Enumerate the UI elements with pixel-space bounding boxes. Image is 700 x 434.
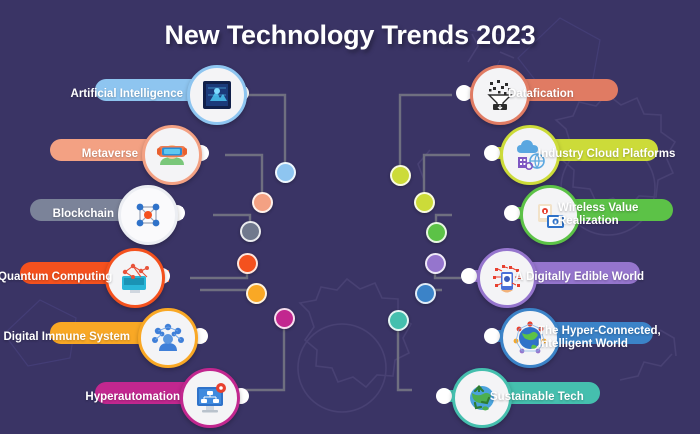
trend-knob <box>436 388 452 404</box>
trend-label: Datafication <box>508 88 658 101</box>
trend-label: Blockchain <box>0 208 114 221</box>
trend-item-hyper-connected-intelligent-world[interactable]: The Hyper-Connected, Intelligent World <box>478 308 668 368</box>
connector-dot-right-3 <box>426 222 447 243</box>
trend-label: Wireless Value Realization <box>558 202 700 228</box>
trend-item-hyperautomation[interactable]: Hyperautomation <box>95 368 275 428</box>
trend-item-industry-cloud-platforms[interactable]: Industry Cloud Platforms <box>478 125 663 185</box>
trend-item-datafication[interactable]: Datafication <box>448 65 623 125</box>
trend-item-metaverse[interactable]: Metaverse <box>50 125 225 185</box>
blockchain-nodes-icon <box>118 185 178 245</box>
trend-item-artificial-intelligence[interactable]: Artificial Intelligence <box>95 65 255 125</box>
connector-dot-left-2 <box>252 192 273 213</box>
trend-label: Metaverse <box>10 148 138 161</box>
connector-dot-right-6 <box>388 310 409 331</box>
connector-dot-left-5 <box>246 283 267 304</box>
trend-label: Industry Cloud Platforms <box>538 148 700 161</box>
trend-item-sustainable-tech[interactable]: Sustainable Tech <box>430 368 615 428</box>
trend-item-a-digitally-edible-world[interactable]: A Digitally Edible World <box>455 248 645 308</box>
trend-label: Sustainable Tech <box>490 391 640 404</box>
connector-dot-right-2 <box>414 192 435 213</box>
automation-monitor-icon <box>180 368 240 428</box>
trend-knob <box>461 268 477 284</box>
connector-dot-left-4 <box>237 253 258 274</box>
trend-label: Artificial Intelligence <box>55 88 183 101</box>
trend-knob <box>504 205 520 221</box>
quantum-computer-icon <box>105 248 165 308</box>
trend-label: Quantum Computing <box>0 271 108 284</box>
connector-dot-left-3 <box>240 221 261 242</box>
trend-knob <box>484 328 500 344</box>
trend-label: A Digitally Edible World <box>515 271 695 284</box>
trend-label: Hyperautomation <box>70 391 180 404</box>
trend-item-blockchain[interactable]: Blockchain <box>30 185 215 245</box>
trend-label: The Hyper-Connected, Intelligent World <box>538 325 700 351</box>
connector-dot-left-6 <box>274 308 295 329</box>
ai-chip-icon <box>187 65 247 125</box>
page-title: New Technology Trends 2023 <box>0 20 700 51</box>
trend-item-digital-immune-system[interactable]: Digital Immune System <box>50 308 240 368</box>
connector-dot-right-1 <box>390 165 411 186</box>
trend-label: Digital Immune System <box>2 331 130 344</box>
connector-dot-right-4 <box>425 253 446 274</box>
trend-item-wireless-value-realization[interactable]: Wireless Value Realization <box>498 185 683 245</box>
digital-immune-icon <box>138 308 198 368</box>
vr-headset-icon <box>142 125 202 185</box>
trend-item-quantum-computing[interactable]: Quantum Computing <box>20 248 210 308</box>
trend-knob <box>484 145 500 161</box>
connector-dot-left-1 <box>275 162 296 183</box>
connector-dot-right-5 <box>415 283 436 304</box>
infographic-canvas: New Technology Trends 2023 Artificial In… <box>0 0 700 434</box>
